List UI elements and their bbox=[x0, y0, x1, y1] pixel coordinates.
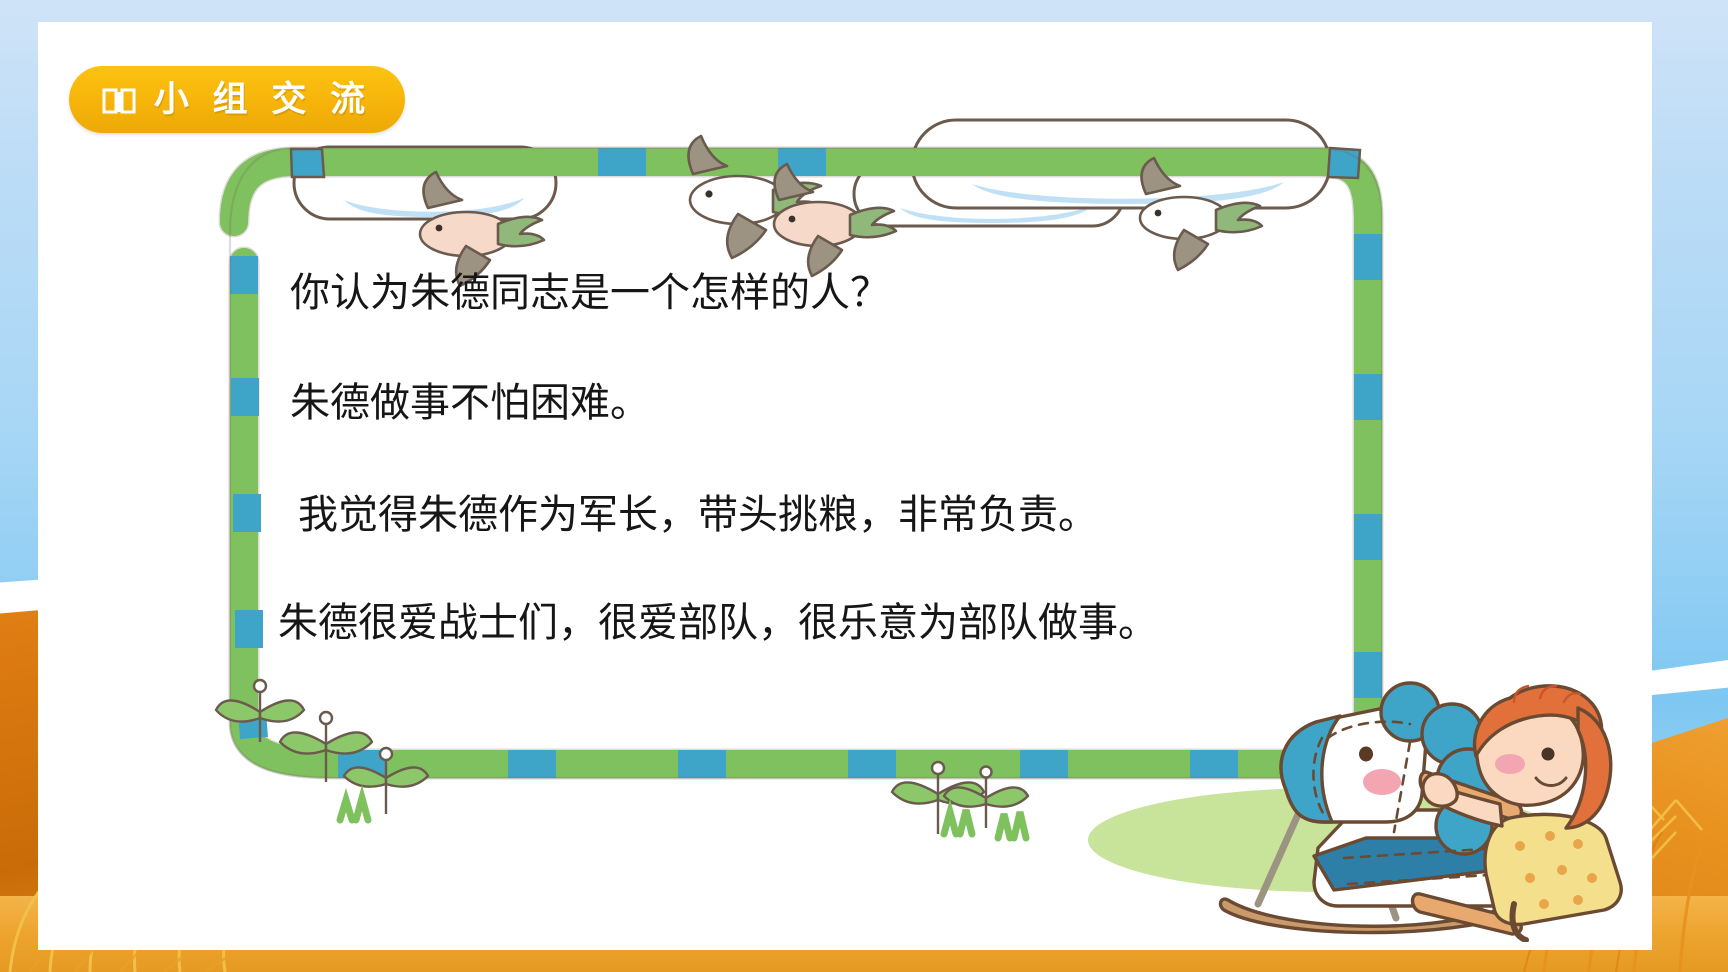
cloud-left bbox=[294, 147, 556, 219]
open-book-icon bbox=[102, 86, 136, 114]
bird-4 bbox=[1140, 158, 1262, 270]
content-line-answer-2: 我觉得朱德作为军长，带头挑粮，非常负责。 bbox=[298, 494, 1446, 536]
plant-1 bbox=[216, 680, 304, 742]
title-badge[interactable]: 小 组 交 流 bbox=[69, 66, 405, 133]
content-line-answer-3: 朱德很爱战士们，很爱部队，很乐意为部队做事。 bbox=[278, 602, 1446, 644]
plant-3 bbox=[344, 748, 428, 814]
girl-dress bbox=[1485, 814, 1621, 924]
content-text-block: 你认为朱德同志是一个怎样的人？ 朱德做事不怕困难。 我觉得朱德作为军长，带头挑粮… bbox=[266, 272, 1446, 644]
girl-hand bbox=[1423, 774, 1457, 806]
slide-stage: 小 组 交 流 你认为朱德同志是一个怎样的人？ 朱德做事不怕困难。 我觉得朱德作… bbox=[0, 0, 1728, 972]
slide-card: 小 组 交 流 你认为朱德同志是一个怎样的人？ 朱德做事不怕困难。 我觉得朱德作… bbox=[38, 22, 1652, 950]
girl-cheek bbox=[1495, 754, 1525, 774]
plant-5 bbox=[944, 767, 1028, 829]
girl-on-rocking-horse-illustration bbox=[1214, 642, 1634, 942]
plant-2 bbox=[280, 712, 372, 782]
plant-4 bbox=[892, 762, 984, 834]
ribbon-corner-chip bbox=[291, 148, 1360, 178]
cloud-right bbox=[912, 120, 1330, 208]
cloud-middle bbox=[854, 162, 1124, 226]
bird-1 bbox=[689, 136, 824, 258]
content-line-question: 你认为朱德同志是一个怎样的人？ bbox=[290, 272, 1446, 314]
bird-3 bbox=[420, 172, 544, 286]
bird-2 bbox=[774, 164, 896, 276]
horse-cheek bbox=[1363, 769, 1401, 795]
horse-eye bbox=[1359, 747, 1373, 762]
girl-eye bbox=[1542, 748, 1555, 761]
title-badge-label: 小 组 交 流 bbox=[150, 82, 372, 117]
content-line-answer-1: 朱德做事不怕困难。 bbox=[290, 382, 1446, 424]
